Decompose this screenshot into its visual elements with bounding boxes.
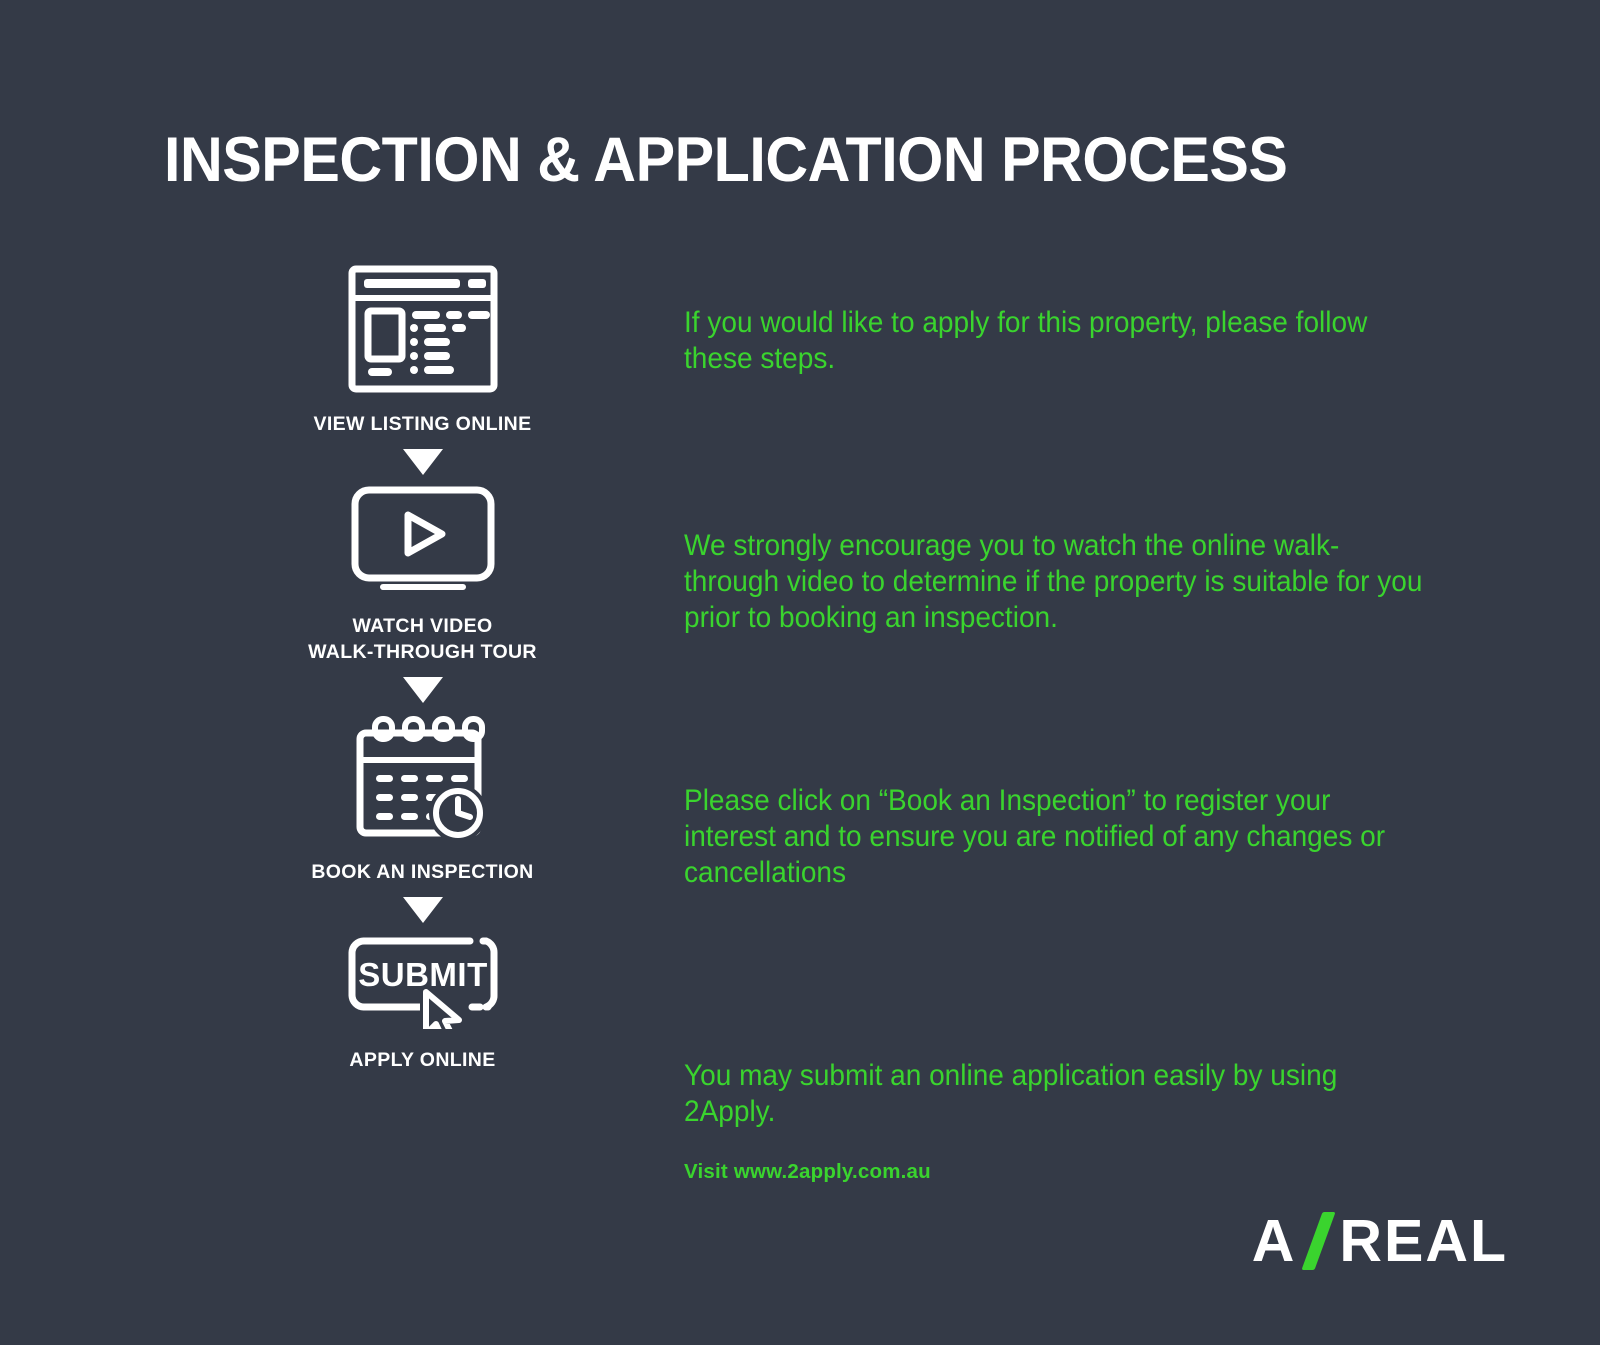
flow-step-label-line1: BOOK AN INSPECTION: [311, 861, 533, 883]
logo-wordmark: REAL: [1339, 1207, 1508, 1275]
arrow-down-triangle-icon: [403, 897, 443, 923]
flow-step-label: VIEW LISTING ONLINE: [255, 411, 590, 437]
process-flow: VIEW LISTING ONLINE WATCH VIDEO WALK-THR…: [255, 265, 590, 1073]
copy-block-inspection: Please click on “Book an Inspection” to …: [684, 783, 1444, 891]
flow-step-label: WATCH VIDEO WALK-THROUGH TOUR: [255, 613, 590, 665]
copy-paragraph: If you would like to apply for this prop…: [684, 305, 1406, 377]
arrow-down-triangle-icon: [403, 449, 443, 475]
copy-paragraph: You may submit an online application eas…: [684, 1058, 1406, 1130]
flow-step-label-line1: APPLY ONLINE: [349, 1049, 495, 1071]
page-title: INSPECTION & APPLICATION PROCESS: [164, 124, 1367, 196]
calendar-clock-icon: [255, 713, 590, 841]
copy-block-apply: You may submit an online application eas…: [684, 1058, 1444, 1130]
flow-step-label: APPLY ONLINE: [255, 1047, 590, 1073]
flow-step-apply-online: SUBMIT APPLY ONLINE: [255, 933, 590, 1073]
logo-letter-a: A: [1252, 1207, 1297, 1275]
copy-paragraph: We strongly encourage you to watch the o…: [684, 528, 1425, 636]
flow-step-book-inspection: BOOK AN INSPECTION: [255, 713, 590, 885]
flow-step-label-line2: WALK-THROUGH TOUR: [308, 641, 537, 663]
brand-logo: A REAL: [1252, 1207, 1508, 1275]
copy-block-intro: If you would like to apply for this prop…: [684, 305, 1444, 377]
arrow-down-triangle-icon: [403, 677, 443, 703]
video-play-monitor-icon: [255, 485, 590, 595]
browser-listing-icon: [255, 265, 590, 393]
submit-button-cursor-icon: SUBMIT: [255, 933, 590, 1029]
flow-step-label: BOOK AN INSPECTION: [255, 859, 590, 885]
visit-link[interactable]: Visit www.2apply.com.au: [684, 1160, 931, 1184]
flow-step-label-line1: VIEW LISTING ONLINE: [314, 413, 532, 435]
flow-step-watch-video: WATCH VIDEO WALK-THROUGH TOUR: [255, 485, 590, 665]
flow-step-label-line1: WATCH VIDEO: [353, 615, 493, 637]
copy-block-video: We strongly encourage you to watch the o…: [684, 528, 1464, 636]
copy-paragraph: Please click on “Book an Inspection” to …: [684, 783, 1406, 891]
flow-step-view-listing: VIEW LISTING ONLINE: [255, 265, 590, 437]
logo-slash-icon: [1302, 1212, 1336, 1270]
